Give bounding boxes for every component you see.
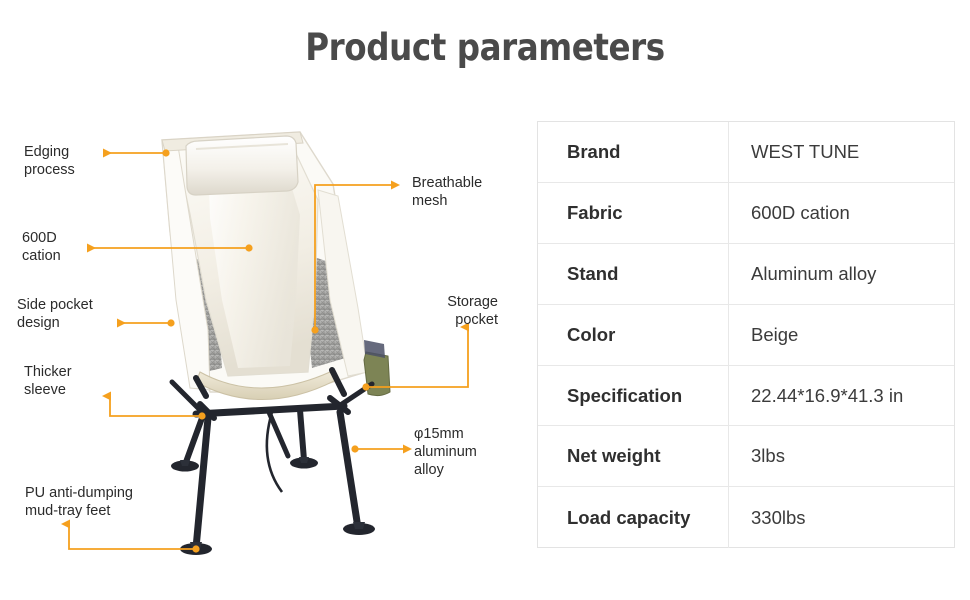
spec-label: Specification (538, 366, 729, 426)
annotation-side-pocket-design: Side pocket design (17, 296, 93, 332)
annotation-thicker-sleeve: Thicker sleeve (24, 363, 72, 399)
table-row: Specification 22.44*16.9*41.3 in (538, 366, 954, 427)
table-row: Stand Aluminum alloy (538, 244, 954, 305)
spec-value: 600D cation (729, 183, 954, 243)
spec-label: Color (538, 305, 729, 365)
spec-value: 22.44*16.9*41.3 in (729, 366, 954, 426)
spec-value: Aluminum alloy (729, 244, 954, 304)
spec-value: Beige (729, 305, 954, 365)
specification-table: Brand WEST TUNE Fabric 600D cation Stand… (537, 121, 955, 548)
table-row: Load capacity 330lbs (538, 487, 954, 548)
table-row: Brand WEST TUNE (538, 122, 954, 183)
spec-label: Brand (538, 122, 729, 182)
spec-value: 330lbs (729, 487, 954, 548)
spec-label: Load capacity (538, 487, 729, 548)
annotation-pu-anti-dumping-feet: PU anti-dumping mud-tray feet (25, 484, 133, 520)
table-row: Fabric 600D cation (538, 183, 954, 244)
annotation-storage-pocket: Storage pocket (370, 293, 498, 329)
spec-label: Net weight (538, 426, 729, 486)
annotation-breathable-mesh: Breathable mesh (412, 174, 482, 210)
product-parameters-infographic: Product parameters (0, 0, 970, 600)
table-row: Color Beige (538, 305, 954, 366)
spec-value: WEST TUNE (729, 122, 954, 182)
spec-label: Fabric (538, 183, 729, 243)
annotation-edging-process: Edging process (24, 143, 75, 179)
table-row: Net weight 3lbs (538, 426, 954, 487)
spec-label: Stand (538, 244, 729, 304)
annotation-aluminum-alloy: φ15mm aluminum alloy (414, 425, 477, 479)
spec-value: 3lbs (729, 426, 954, 486)
annotation-600d-cation: 600D cation (22, 229, 61, 265)
